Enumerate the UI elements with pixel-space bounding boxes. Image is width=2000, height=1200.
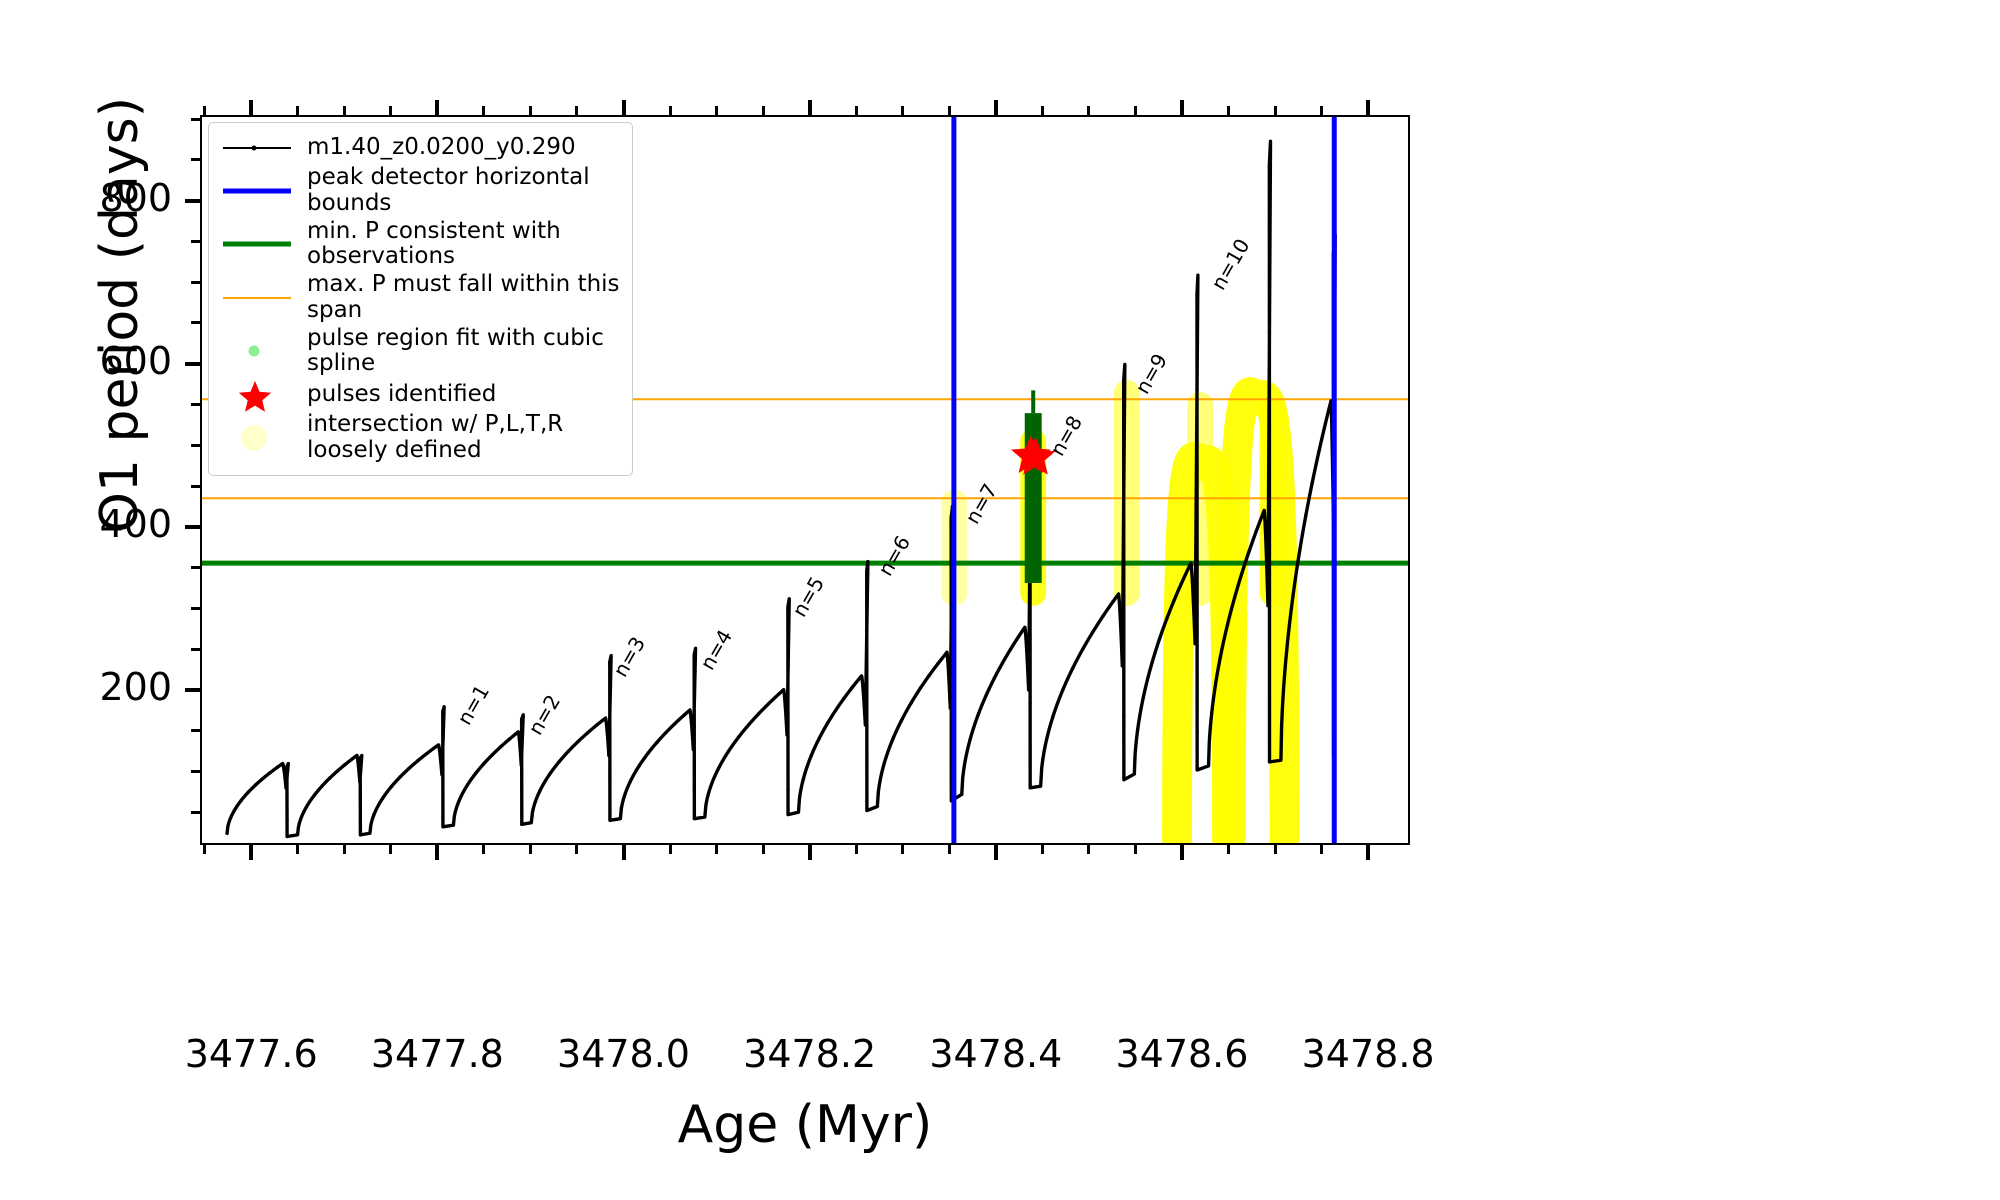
legend-label: pulses identified [307, 382, 496, 408]
figure-canvas: 200400600800 3477.63477.83478.03478.2347… [0, 0, 2000, 1200]
y-tick-minor [191, 770, 200, 773]
x-tick-top [994, 100, 998, 115]
y-tick-major [185, 688, 200, 692]
x-tick-minor [529, 845, 532, 854]
legend-label: peak detector horizontal bounds [307, 165, 622, 217]
x-tick-label: 3478.2 [743, 1032, 876, 1076]
x-tick-top [203, 106, 206, 115]
legend-key-small-dot-icon [219, 337, 297, 365]
chart-legend[interactable]: m1.40_z0.0200_y0.290peak detector horizo… [208, 122, 633, 476]
x-tick-label: 3477.6 [185, 1032, 318, 1076]
legend-star-icon [219, 381, 297, 415]
legend-thick-line-icon [223, 188, 291, 193]
x-tick-major [1180, 845, 1184, 860]
legend-thick-line-icon [223, 242, 291, 247]
y-tick-label: 200 [0, 668, 172, 706]
x-tick-minor [1320, 845, 1323, 854]
x-tick-top [389, 106, 392, 115]
x-tick-minor [1087, 845, 1090, 854]
x-tick-top [901, 106, 904, 115]
y-tick-major [185, 199, 200, 203]
legend-item-1[interactable]: peak detector horizontal bounds [219, 164, 622, 218]
legend-item-3[interactable]: max. P must fall within this span [219, 271, 622, 325]
x-tick-top [1180, 100, 1184, 115]
y-tick-minor [191, 607, 200, 610]
x-tick-minor [482, 845, 485, 854]
x-tick-top [1134, 106, 1137, 115]
legend-label: intersection w/ P,L,T,R loosely defined [307, 412, 563, 464]
x-tick-top [1041, 106, 1044, 115]
legend-item-4[interactable]: pulse region fit with cubic spline [219, 325, 622, 379]
legend-key-thin-line-icon [219, 284, 297, 312]
x-tick-top [296, 106, 299, 115]
legend-spline-dot-icon [249, 346, 260, 357]
legend-label: m1.40_z0.0200_y0.290 [307, 135, 576, 161]
legend-label: min. P consistent with observations [307, 219, 622, 271]
y-tick-minor [191, 403, 200, 406]
y-tick-minor [191, 240, 200, 243]
x-tick-top [1274, 106, 1277, 115]
x-tick-top [482, 106, 485, 115]
y-tick-major [185, 525, 200, 529]
y-tick-minor [191, 118, 200, 121]
y-tick-minor [191, 485, 200, 488]
legend-label: max. P must fall within this span [307, 272, 622, 324]
x-tick-top [1320, 106, 1323, 115]
x-tick-minor [575, 845, 578, 854]
legend-item-0[interactable]: m1.40_z0.0200_y0.290 [219, 131, 622, 164]
legend-thin-line-icon [223, 297, 291, 299]
x-tick-top [575, 106, 578, 115]
x-tick-top [669, 106, 672, 115]
x-tick-major [808, 845, 812, 860]
x-tick-top [948, 106, 951, 115]
x-tick-label: 3478.4 [929, 1032, 1062, 1076]
x-tick-minor [1274, 845, 1277, 854]
x-tick-top [529, 106, 532, 115]
x-tick-top [855, 106, 858, 115]
x-tick-label: 3477.8 [371, 1032, 504, 1076]
x-tick-minor [901, 845, 904, 854]
x-tick-minor [948, 845, 951, 854]
x-tick-minor [343, 845, 346, 854]
x-tick-top [435, 100, 439, 115]
x-tick-top [1366, 100, 1370, 115]
x-tick-major [1366, 845, 1370, 860]
x-tick-minor [1041, 845, 1044, 854]
y-tick-minor [191, 158, 200, 161]
legend-key-big-dot-icon [219, 424, 297, 452]
x-tick-top [622, 100, 626, 115]
x-tick-minor [762, 845, 765, 854]
legend-label: pulse region fit with cubic spline [307, 326, 622, 378]
legend-item-2[interactable]: min. P consistent with observations [219, 218, 622, 272]
x-tick-minor [296, 845, 299, 854]
y-tick-minor [191, 281, 200, 284]
x-tick-top [1227, 106, 1230, 115]
y-axis-label: O1 period (days) [90, 15, 150, 615]
x-tick-top [808, 100, 812, 115]
x-tick-minor [1227, 845, 1230, 854]
y-tick-minor [191, 321, 200, 324]
x-tick-major [435, 845, 439, 860]
x-tick-label: 3478.6 [1115, 1032, 1248, 1076]
x-tick-label: 3478.8 [1302, 1032, 1435, 1076]
x-tick-top [715, 106, 718, 115]
y-tick-minor [191, 729, 200, 732]
legend-line-icon [223, 147, 291, 149]
legend-key-line-with-marker-icon [219, 134, 297, 162]
legend-marker-dot-icon [252, 145, 257, 150]
legend-key-thick-line-icon [219, 177, 297, 205]
x-axis-label: Age (Myr) [200, 1095, 1410, 1155]
y-tick-minor [191, 566, 200, 569]
x-tick-minor [855, 845, 858, 854]
x-tick-minor [669, 845, 672, 854]
x-tick-minor [715, 845, 718, 854]
x-tick-minor [203, 845, 206, 854]
x-tick-label: 3478.0 [557, 1032, 690, 1076]
x-tick-minor [389, 845, 392, 854]
legend-intersection-dot-icon [241, 425, 267, 451]
y-tick-major [185, 362, 200, 366]
x-tick-major [994, 845, 998, 860]
y-tick-minor [191, 648, 200, 651]
legend-item-5[interactable]: pulses identified [219, 378, 622, 411]
x-tick-major [249, 845, 253, 860]
x-tick-top [762, 106, 765, 115]
legend-item-6[interactable]: intersection w/ P,L,T,R loosely defined [219, 411, 622, 465]
x-tick-top [343, 106, 346, 115]
y-tick-minor [191, 811, 200, 814]
x-tick-minor [1134, 845, 1137, 854]
x-tick-top [1087, 106, 1090, 115]
legend-key-thick-line-icon [219, 230, 297, 258]
x-tick-major [622, 845, 626, 860]
y-tick-minor [191, 444, 200, 447]
legend-key-star-icon [219, 381, 297, 409]
x-tick-top [249, 100, 253, 115]
